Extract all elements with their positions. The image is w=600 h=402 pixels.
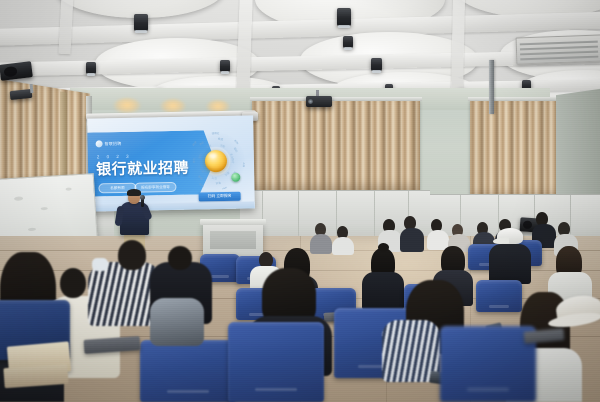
slide-eyebrow-text: 2 0 2 3: [97, 154, 132, 160]
word-cloud-term: offer: [222, 185, 228, 189]
lecture-hall-photo: 智联招聘 2 0 2 3 银行就业招聘 名额有限 报名即享就业指导 银行国企of…: [0, 0, 600, 402]
word-cloud-term: 薪资: [197, 174, 204, 180]
audience-hair-bun: [378, 243, 389, 252]
audience-torso: [362, 272, 404, 310]
ceiling-downlight: [343, 36, 353, 48]
face-mask-icon: [92, 258, 108, 271]
ceiling-downlight: [86, 62, 96, 74]
wall-wash-light: [113, 98, 141, 114]
green-check-badge-icon: [231, 173, 240, 182]
lectern-panel: [210, 231, 256, 249]
word-cloud-term: 面试: [224, 171, 231, 177]
auditorium-seat-foreground: [140, 340, 236, 402]
ceiling-beam-cross: [451, 0, 465, 98]
audience-head: [168, 246, 192, 270]
curtain-rail: [250, 97, 422, 101]
projector-lens-icon: [308, 99, 313, 104]
word-cloud-term: 银行: [231, 158, 235, 163]
auditorium-seat: [476, 280, 522, 312]
word-cloud-term: 求职: [220, 143, 226, 149]
word-cloud-term: 保险: [197, 154, 202, 160]
slide-cta-button: 扫码 立即报名: [199, 192, 241, 202]
word-cloud-term: 简历: [191, 157, 195, 162]
slide-headline: 银行就业招聘: [96, 161, 189, 178]
auditorium-seat-foreground: [440, 326, 536, 402]
ceiling-downlight: [220, 60, 230, 72]
audience-head: [60, 268, 86, 298]
backpack: [150, 298, 204, 346]
audience-torso: [489, 244, 531, 284]
word-cloud-term: 笔试: [215, 181, 221, 185]
word-cloud-term: 农信: [205, 143, 211, 149]
ceiling-downlight: [337, 8, 351, 26]
auditorium-seat-foreground: [228, 322, 324, 402]
ceiling-downlight: [134, 14, 148, 31]
word-cloud-term: 上岸: [242, 161, 246, 167]
word-cloud-term: 信用社: [211, 132, 219, 136]
lectern-top: [200, 219, 266, 225]
ceiling-beam-cross: [58, 0, 73, 54]
air-conditioner-vent: [516, 35, 600, 65]
word-cloud-term: 编制: [186, 163, 190, 169]
ceiling-downlight: [371, 58, 382, 71]
word-cloud-term: 实习: [211, 176, 217, 181]
word-cloud-term: 秋招: [233, 139, 239, 146]
slide-logo: 智联招聘: [96, 140, 122, 147]
word-cloud-term: 培训: [232, 147, 238, 153]
window-curtain: [252, 100, 420, 192]
word-cloud-term: 岗位: [199, 167, 205, 174]
word-cloud-term: 券商: [199, 140, 206, 146]
audience-torso: [310, 234, 332, 254]
audience-torso: [400, 228, 424, 252]
audience-torso: [332, 237, 354, 255]
projection-screen: 智联招聘 2 0 2 3 银行就业招聘 名额有限 报名即享就业指导 银行国企of…: [87, 115, 255, 211]
support-pipe: [489, 60, 494, 114]
slide-logo-mark: [96, 140, 103, 147]
slide-logo-text: 智联招聘: [105, 141, 122, 145]
audience-head: [118, 240, 146, 270]
microphone-head-icon: [140, 195, 145, 200]
word-cloud-term: 春招: [217, 137, 223, 142]
presenter-hair: [127, 189, 141, 196]
